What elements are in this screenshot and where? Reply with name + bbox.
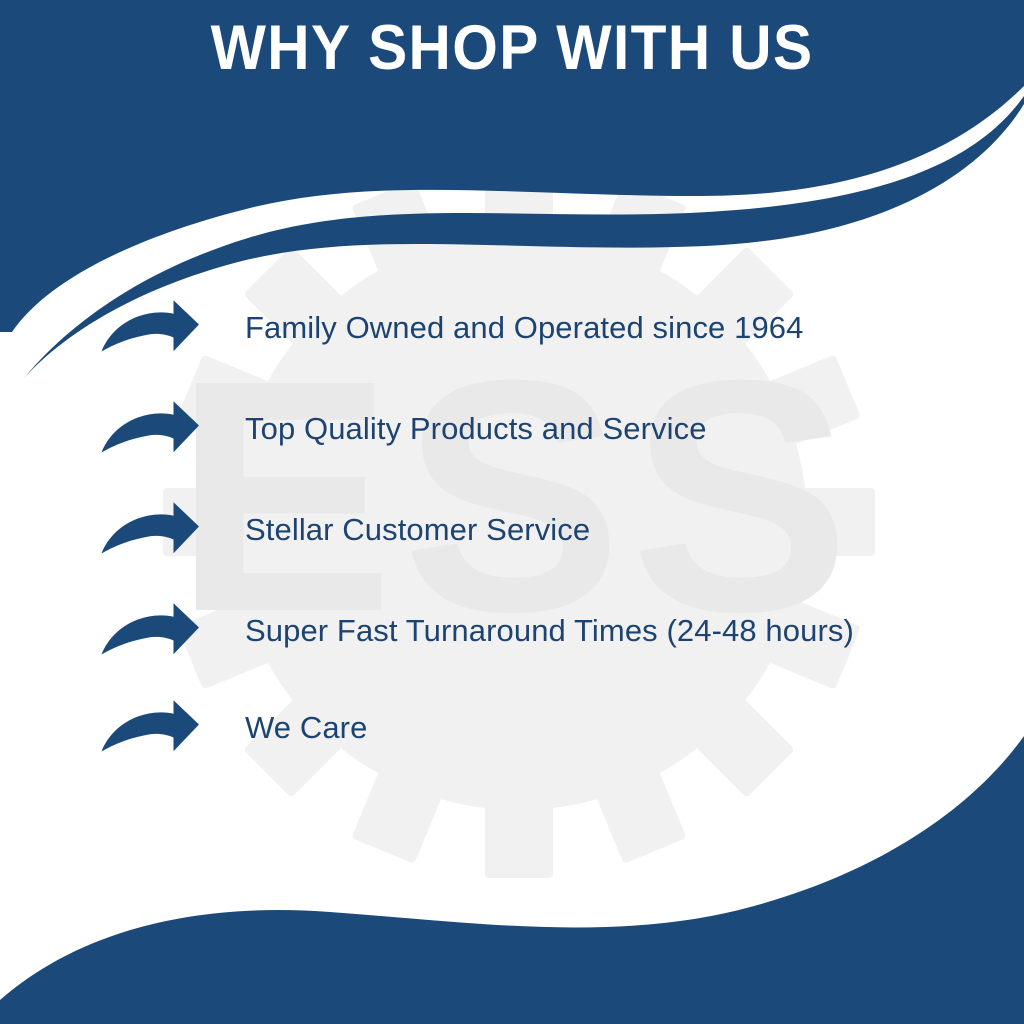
curved-arrow-right-icon xyxy=(100,699,200,757)
curved-arrow-right-icon xyxy=(100,400,200,458)
benefits-list: Family Owned and Operated since 1964 Top… xyxy=(0,0,1024,1024)
curved-arrow-right-icon xyxy=(100,602,200,660)
benefit-label: Top Quality Products and Service xyxy=(245,411,707,447)
curved-arrow-right-icon xyxy=(100,299,200,357)
benefit-label: Super Fast Turnaround Times (24-48 hours… xyxy=(245,613,854,649)
benefit-label: Family Owned and Operated since 1964 xyxy=(245,310,803,346)
benefit-label: Stellar Customer Service xyxy=(245,512,590,548)
curved-arrow-right-icon xyxy=(100,602,200,660)
benefit-row: Family Owned and Operated since 1964 xyxy=(100,297,803,359)
curved-arrow-right-icon xyxy=(100,501,200,559)
benefit-row: Top Quality Products and Service xyxy=(100,398,707,460)
benefit-row: We Care xyxy=(100,697,367,759)
content: WHY SHOP WITH US Family Owned and Operat… xyxy=(0,0,1024,1024)
curved-arrow-right-icon xyxy=(100,699,200,757)
benefit-row: Stellar Customer Service xyxy=(100,499,590,561)
benefit-row: Super Fast Turnaround Times (24-48 hours… xyxy=(100,600,854,662)
benefit-label: We Care xyxy=(245,710,367,746)
curved-arrow-right-icon xyxy=(100,299,200,357)
promo-graphic: ESS WHY SHOP WITH US Family Owned and Op… xyxy=(0,0,1024,1024)
curved-arrow-right-icon xyxy=(100,400,200,458)
curved-arrow-right-icon xyxy=(100,501,200,559)
